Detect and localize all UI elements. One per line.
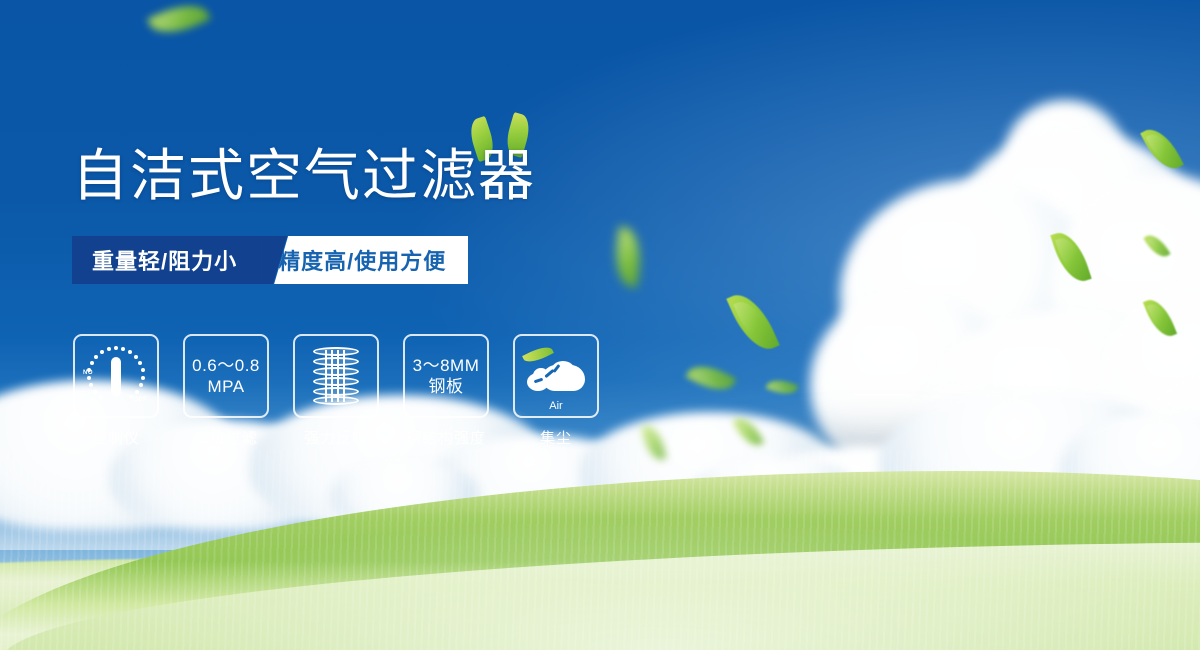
air-label: Air — [525, 400, 587, 412]
feature-item-control[interactable]: NO OFF 控制仪 — [72, 334, 160, 448]
feature-label: 集尘 — [540, 427, 572, 448]
feature-label: 控制仪 — [92, 427, 140, 448]
pressure-unit: MPA — [207, 376, 244, 397]
feature-label: 强力反吹 — [304, 427, 368, 448]
steel-material: 钢板 — [429, 376, 464, 397]
page-title: 自洁式空气过滤器 — [72, 143, 536, 209]
feature-item-pressure[interactable]: 0.6～0.8 MPA 二级过滤 — [182, 334, 270, 448]
coil-filter-icon — [313, 347, 359, 405]
feature-icon-box: 3～8MM 钢板 — [403, 334, 489, 418]
feature-icon-box: NO OFF — [73, 334, 159, 418]
steel-thickness: 3～8MM — [413, 355, 480, 376]
gauge-off-label: OFF — [134, 397, 148, 403]
subtitle-bar: 重量轻/阻力小 精度高/使用方便 — [72, 236, 468, 284]
gauge-icon: NO OFF — [83, 345, 149, 407]
product-banner: 自洁式空气过滤器 重量轻/阻力小 精度高/使用方便 — [0, 0, 1200, 650]
feature-icon-box: Air — [513, 334, 599, 418]
feature-item-dust[interactable]: Air 集尘 — [512, 334, 600, 448]
feature-item-steel[interactable]: 3～8MM 钢板 钢结构强度 — [402, 334, 490, 448]
feature-icon-box: 0.6～0.8 MPA — [183, 334, 269, 418]
subtitle-right: 精度高/使用方便 — [274, 236, 468, 284]
feature-icon-box — [293, 334, 379, 418]
grass-highlight — [0, 500, 1200, 650]
pressure-value: 0.6～0.8 — [192, 355, 260, 376]
feature-label: 钢结构强度 — [406, 427, 486, 448]
gauge-no-label: NO — [83, 370, 93, 376]
feature-list: NO OFF 控制仪 0.6～0.8 MPA 二级过滤 — [72, 334, 600, 448]
feature-label: 二级过滤 — [194, 427, 258, 448]
subtitle-left: 重量轻/阻力小 — [72, 236, 261, 284]
leaf-icon — [522, 343, 554, 366]
air-cloud-icon: Air — [525, 353, 587, 399]
feature-item-blowback[interactable]: 强力反吹 — [292, 334, 380, 448]
